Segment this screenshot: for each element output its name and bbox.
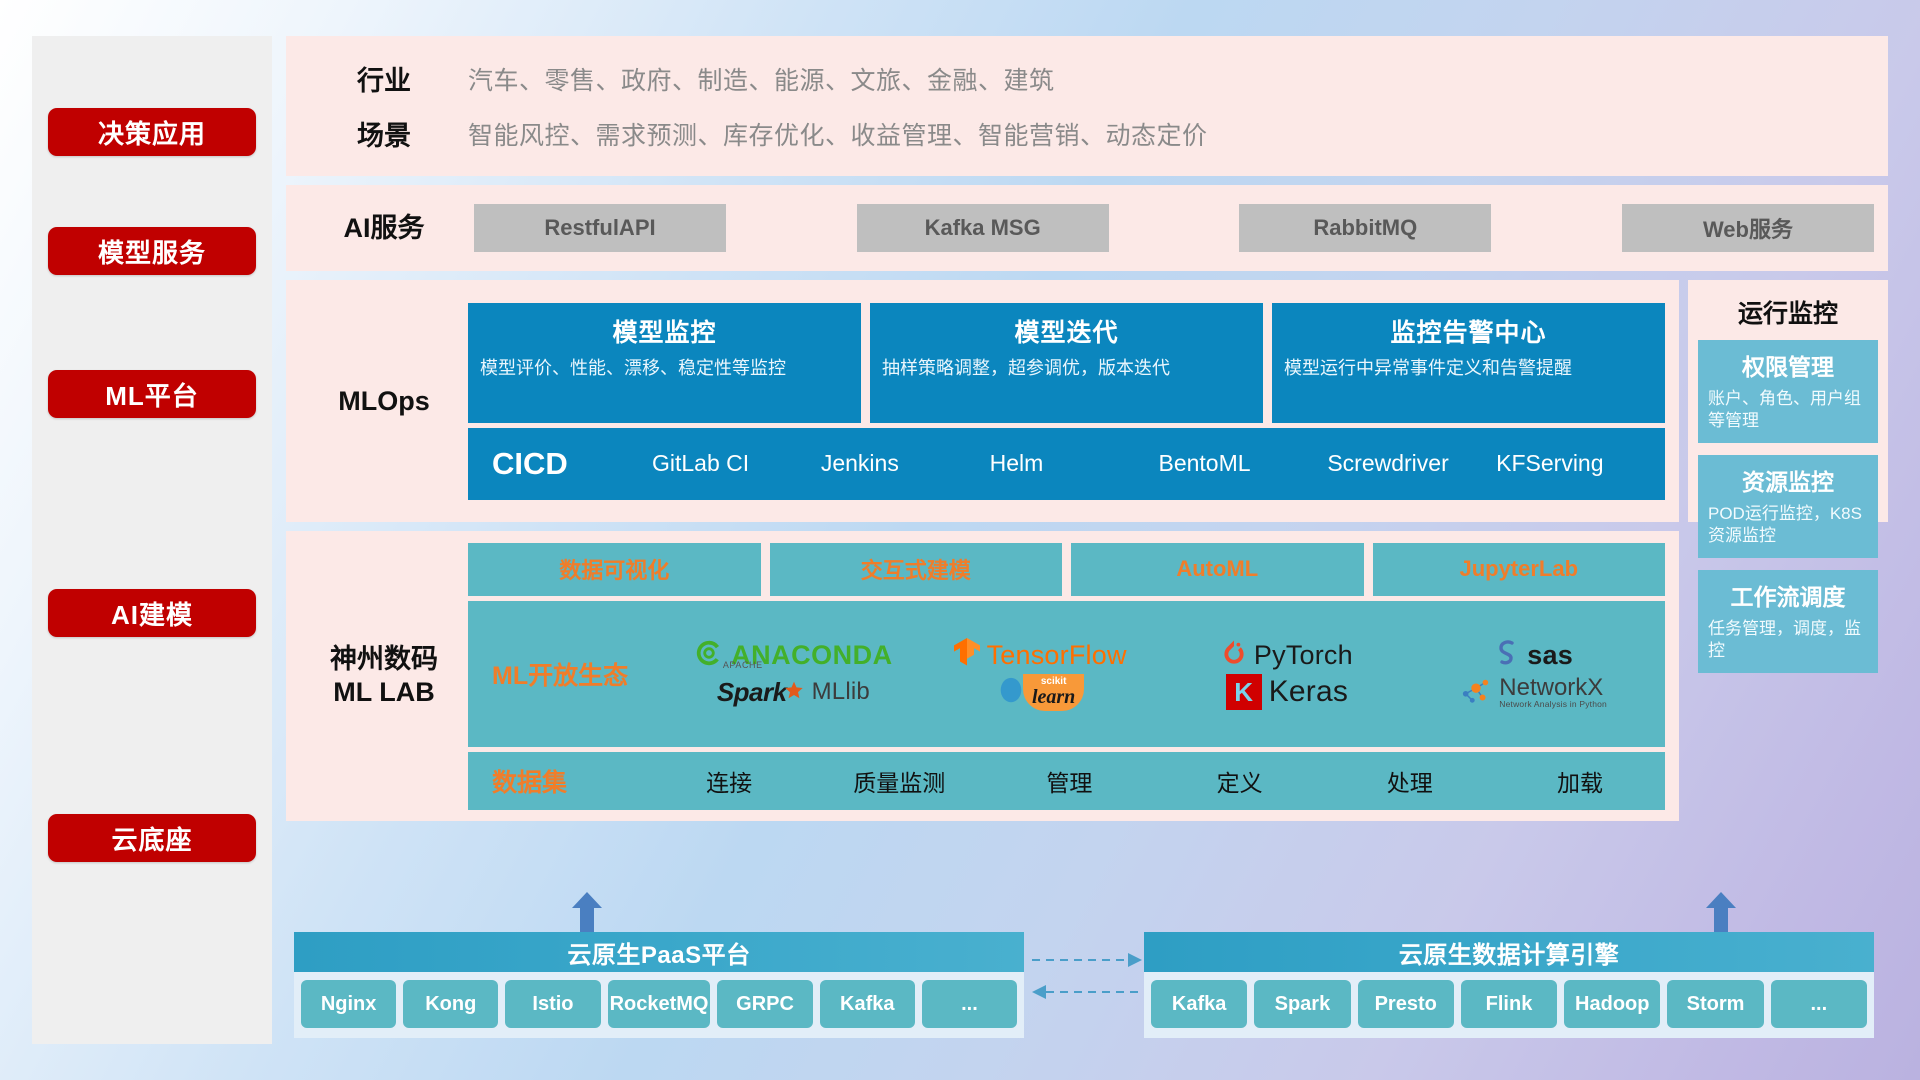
card-desc: 抽样策略调整，超参调优，版本迭代 <box>882 357 1251 380</box>
layer-rail: 决策应用 模型服务 ML平台 AI建模 云底座 <box>32 36 272 1044</box>
rail-item-model-service[interactable]: 模型服务 <box>48 227 256 275</box>
scikit-top-word: scikit <box>1041 677 1067 687</box>
cloud-foundation-row: 云原生PaaS平台 Nginx Kong Istio RocketMQ GRPC… <box>286 830 1888 1044</box>
service-chip-rabbitmq[interactable]: RabbitMQ <box>1239 204 1491 252</box>
sas-icon <box>1494 638 1520 673</box>
engine-chip-hadoop[interactable]: Hadoop <box>1564 980 1660 1028</box>
paas-chip-nginx[interactable]: Nginx <box>301 980 396 1028</box>
mlops-card-model-monitoring[interactable]: 模型监控 模型评价、性能、漂移、稳定性等监控 <box>468 303 861 423</box>
lab-tool-data-visualization[interactable]: 数据可视化 <box>468 543 761 596</box>
main-stack: 行业 汽车、零售、政府、制造、能源、文旅、金融、建筑 场景 智能风控、需求预测、… <box>286 36 1888 1044</box>
paas-chip-kong[interactable]: Kong <box>403 980 498 1028</box>
runtime-monitoring-column: 运行监控 权限管理 账户、角色、用户组等管理 资源监控 POD运行监控，K8S资… <box>1688 280 1888 522</box>
paas-chip-istio[interactable]: Istio <box>505 980 600 1028</box>
cicd-item-kfserving[interactable]: KFServing <box>1496 451 1665 475</box>
rail-item-ai-modeling[interactable]: AI建模 <box>48 589 256 637</box>
card-desc: 模型评价、性能、漂移、稳定性等监控 <box>480 357 849 380</box>
sas-logo: sas <box>1494 638 1573 673</box>
service-chip-web[interactable]: Web服务 <box>1622 204 1874 252</box>
scikit-icon <box>996 675 1026 710</box>
spark-apache-label: APACHE <box>723 660 763 670</box>
dataset-band: 数据集 连接 质量监测 管理 定义 处理 加载 <box>468 752 1665 810</box>
dataset-item-define[interactable]: 定义 <box>1155 764 1325 798</box>
networkx-text: NetworkX Network Analysis in Python <box>1499 676 1607 709</box>
mlops-row: MLOps 模型监控 模型评价、性能、漂移、稳定性等监控 模型迭代 抽样策略调整… <box>286 280 1888 522</box>
card-desc: 模型运行中异常事件定义和告警提醒 <box>1284 357 1653 380</box>
rail-item-ml-platform[interactable]: ML平台 <box>48 370 256 418</box>
spark-wordmark: Spark <box>717 677 787 708</box>
card-title: 权限管理 <box>1708 348 1868 382</box>
cicd-bar: CICD GitLab CI Jenkins Helm BentoML Scre… <box>468 428 1665 500</box>
bidirectional-link-arrows-icon <box>1028 948 1146 1004</box>
data-engine-group: 云原生数据计算引擎 Kafka Spark Presto Flink Hadoo… <box>1144 932 1874 1038</box>
networkx-logo: NetworkX Network Analysis in Python <box>1460 675 1607 710</box>
dataset-item-manage[interactable]: 管理 <box>984 764 1154 798</box>
engine-chip-spark[interactable]: Spark <box>1254 980 1350 1028</box>
card-title: 监控告警中心 <box>1284 313 1653 349</box>
keras-icon: K <box>1226 674 1262 710</box>
rail-item-label: 模型服务 <box>98 233 206 270</box>
keras-wordmark: Keras <box>1269 675 1348 709</box>
mlops-card-alert-center[interactable]: 监控告警中心 模型运行中异常事件定义和告警提醒 <box>1272 303 1665 423</box>
cicd-item-helm[interactable]: Helm <box>990 451 1159 475</box>
paas-chip-kafka[interactable]: Kafka <box>820 980 915 1028</box>
networkx-subtitle: Network Analysis in Python <box>1499 700 1607 709</box>
service-chip-restfulapi[interactable]: RestfulAPI <box>474 204 726 252</box>
ai-service-band: AI服务 RestfulAPI Kafka MSG RabbitMQ Web服务 <box>286 185 1888 271</box>
scikit-learn-logo: scikit learn <box>996 674 1084 711</box>
card-desc: 账户、角色、用户组等管理 <box>1708 388 1868 433</box>
paas-group: 云原生PaaS平台 Nginx Kong Istio RocketMQ GRPC… <box>294 932 1024 1038</box>
card-title: 资源监控 <box>1708 463 1868 497</box>
scikit-bottom-word: learn <box>1032 687 1075 707</box>
engine-up-arrow-icon <box>1702 892 1740 932</box>
ml-ecosystem-band: ML开放生态 ANACONDA <box>468 601 1665 747</box>
architecture-diagram: 决策应用 模型服务 ML平台 AI建模 云底座 行业 汽车、零售、政府、制造、能… <box>32 36 1888 1044</box>
lab-tool-jupyterlab[interactable]: JupyterLab <box>1373 543 1666 596</box>
paas-chip-rocketmq[interactable]: RocketMQ <box>608 980 711 1028</box>
pytorch-icon <box>1221 638 1247 673</box>
mlops-card-model-iteration[interactable]: 模型迭代 抽样策略调整，超参调优，版本迭代 <box>870 303 1263 423</box>
tensorflow-logo: TensorFlow <box>954 637 1127 674</box>
networkx-icon <box>1460 675 1492 710</box>
ml-ecosystem-label: ML开放生态 <box>492 656 672 692</box>
ml-lab-band: 神州数码 ML LAB 数据可视化 交互式建模 AutoML JupyterLa… <box>286 531 1679 821</box>
lab-tool-automl[interactable]: AutoML <box>1071 543 1364 596</box>
industry-value: 汽车、零售、政府、制造、能源、文旅、金融、建筑 <box>468 61 1055 97</box>
ml-lab-label: 神州数码 ML LAB <box>300 643 468 710</box>
scenario-label: 场景 <box>300 114 468 153</box>
ml-lab-label-line2: ML LAB <box>300 676 468 709</box>
scenario-value: 智能风控、需求预测、库存优化、收益管理、智能营销、动态定价 <box>468 116 1208 152</box>
dataset-item-quality-monitoring[interactable]: 质量监测 <box>814 764 984 798</box>
paas-title: 云原生PaaS平台 <box>294 932 1024 972</box>
ai-service-label: AI服务 <box>300 212 468 245</box>
pytorch-wordmark: PyTorch <box>1254 640 1353 671</box>
spark-icon: APACHE Spark <box>717 677 805 708</box>
dataset-item-process[interactable]: 处理 <box>1325 764 1495 798</box>
lab-tool-interactive-modeling[interactable]: 交互式建模 <box>770 543 1063 596</box>
sas-wordmark: sas <box>1527 640 1573 671</box>
cicd-title: CICD <box>492 446 652 482</box>
spark-mllib-logo: APACHE Spark MLlib <box>717 677 870 708</box>
engine-chip-presto[interactable]: Presto <box>1358 980 1454 1028</box>
cicd-item-screwdriver[interactable]: Screwdriver <box>1327 451 1496 475</box>
card-title: 模型监控 <box>480 313 849 349</box>
rail-item-label: 云底座 <box>111 820 192 857</box>
scikit-learn-badge: scikit learn <box>1023 674 1084 711</box>
service-chip-kafka-msg[interactable]: Kafka MSG <box>857 204 1109 252</box>
card-title: 模型迭代 <box>882 313 1251 349</box>
engine-chip-flink[interactable]: Flink <box>1461 980 1557 1028</box>
paas-up-arrow-icon <box>568 892 606 932</box>
dataset-item-connect[interactable]: 连接 <box>644 764 814 798</box>
rail-item-decision-apps[interactable]: 决策应用 <box>48 108 256 156</box>
tensorflow-icon <box>954 637 980 674</box>
mlops-label: MLOps <box>300 385 468 418</box>
cicd-item-jenkins[interactable]: Jenkins <box>821 451 990 475</box>
engine-chip-storm[interactable]: Storm <box>1667 980 1763 1028</box>
cicd-item-bentoml[interactable]: BentoML <box>1158 451 1327 475</box>
anaconda-icon <box>694 638 724 673</box>
rail-item-label: AI建模 <box>111 595 193 632</box>
industry-label: 行业 <box>300 59 468 98</box>
keras-mark: K <box>1234 677 1253 708</box>
paas-chip-grpc[interactable]: GRPC <box>717 980 812 1028</box>
lab-right-spacer <box>1688 531 1888 821</box>
dataset-item-load[interactable]: 加载 <box>1495 764 1665 798</box>
dataset-title: 数据集 <box>492 763 644 799</box>
pytorch-logo: PyTorch <box>1221 638 1353 673</box>
decision-apps-band: 行业 汽车、零售、政府、制造、能源、文旅、金融、建筑 场景 智能风控、需求预测、… <box>286 36 1888 176</box>
rail-item-label: 决策应用 <box>98 114 206 151</box>
engine-chip-more[interactable]: ... <box>1771 980 1867 1028</box>
ml-lab-label-line1: 神州数码 <box>300 643 468 676</box>
cicd-item-gitlab-ci[interactable]: GitLab CI <box>652 451 821 475</box>
engine-title: 云原生数据计算引擎 <box>1144 932 1874 972</box>
paas-chip-more[interactable]: ... <box>922 980 1017 1028</box>
mllib-wordmark: MLlib <box>812 678 870 706</box>
engine-chip-kafka[interactable]: Kafka <box>1151 980 1247 1028</box>
industry-row: 行业 汽车、零售、政府、制造、能源、文旅、金融、建筑 <box>300 59 1874 98</box>
tensorflow-wordmark: TensorFlow <box>987 640 1127 671</box>
runtime-monitoring-title: 运行监控 <box>1698 288 1878 340</box>
mlops-band: MLOps 模型监控 模型评价、性能、漂移、稳定性等监控 模型迭代 抽样策略调整… <box>286 280 1679 522</box>
rail-item-label: ML平台 <box>105 376 199 413</box>
networkx-wordmark: NetworkX <box>1499 676 1607 700</box>
scenario-row: 场景 智能风控、需求预测、库存优化、收益管理、智能营销、动态定价 <box>300 114 1874 153</box>
rail-item-cloud-base[interactable]: 云底座 <box>48 814 256 862</box>
keras-logo: K Keras <box>1226 674 1348 710</box>
monitor-card-permissions[interactable]: 权限管理 账户、角色、用户组等管理 <box>1698 340 1878 443</box>
ml-lab-row: 神州数码 ML LAB 数据可视化 交互式建模 AutoML JupyterLa… <box>286 531 1888 821</box>
